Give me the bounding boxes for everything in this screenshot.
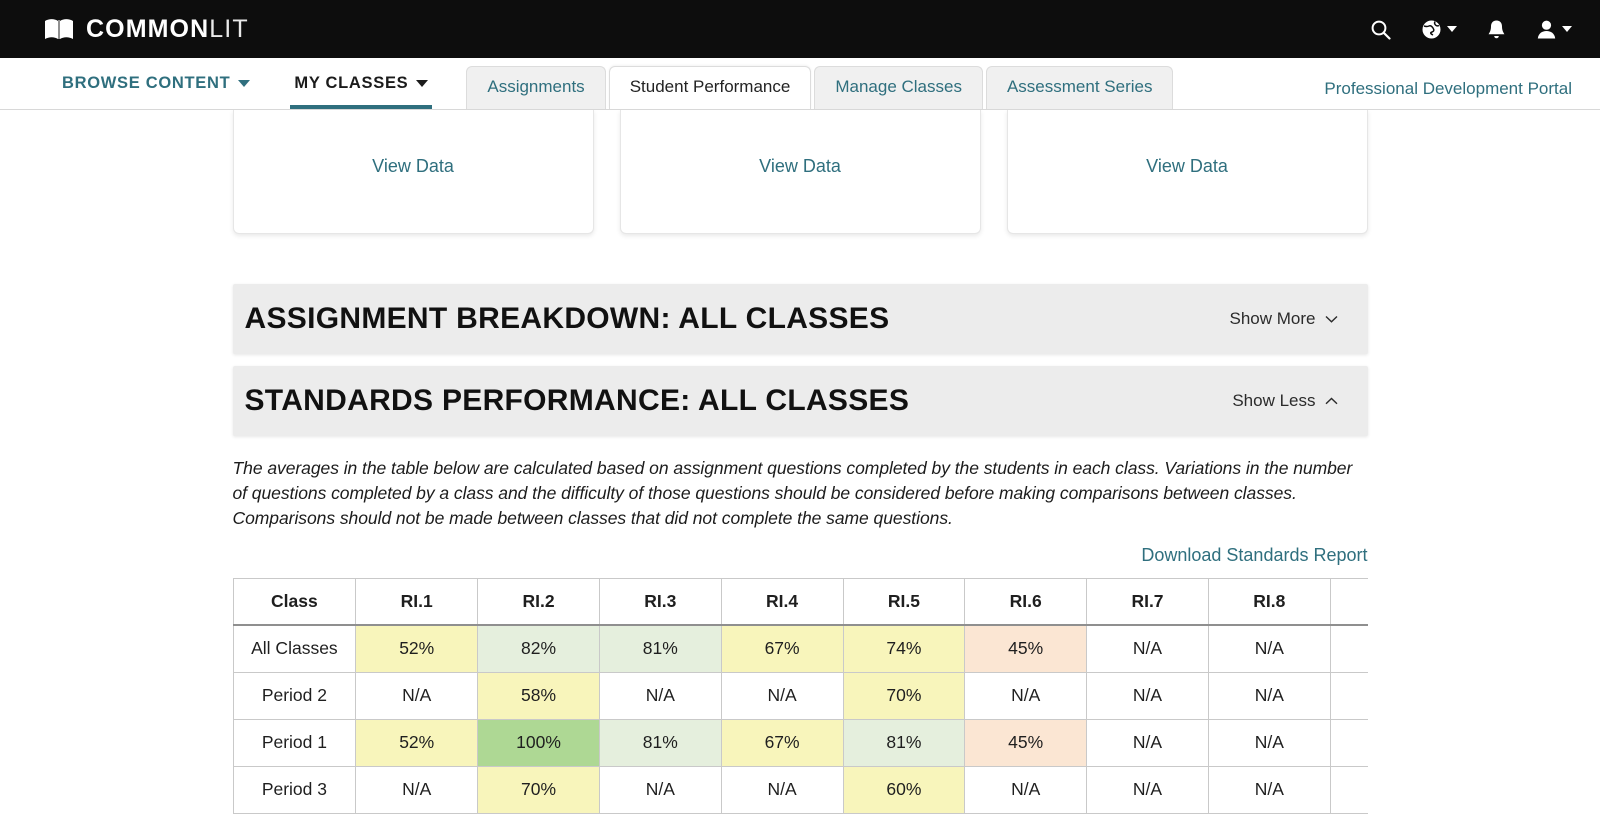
standards-performance-toggle-label: Show Less <box>1232 391 1315 411</box>
col-header-ri5: RI.5 <box>843 578 965 625</box>
chevron-down-icon <box>238 80 250 87</box>
col-header-ri9: RI.9 <box>1330 578 1367 625</box>
table-cell-score: N/A <box>356 766 478 813</box>
table-cell-score: N/A <box>1208 766 1330 813</box>
col-header-ri6: RI.6 <box>965 578 1087 625</box>
download-standards-report-link[interactable]: Download Standards Report <box>1141 545 1367 565</box>
table-cell-score: 67% <box>721 625 843 672</box>
assignment-breakdown-toggle[interactable]: Show More <box>1230 309 1338 329</box>
col-header-ri2: RI.2 <box>478 578 600 625</box>
table-cell-score: N <box>1330 625 1367 672</box>
summary-card[interactable]: View Data <box>1007 110 1368 234</box>
tab-student-performance[interactable]: Student Performance <box>609 66 812 109</box>
table-cell-score: 100% <box>478 719 600 766</box>
commonlit-logo[interactable]: COMMONLIT <box>44 15 249 44</box>
row-label-class: Period 3 <box>233 766 356 813</box>
chevron-down-icon <box>1447 26 1457 32</box>
table-cell-score: N/A <box>1087 766 1209 813</box>
col-header-ri4: RI.4 <box>721 578 843 625</box>
tab-manage-classes[interactable]: Manage Classes <box>814 66 983 109</box>
table-row: Period 152%100%81%67%81%45%N/AN/AN <box>233 719 1368 766</box>
table-row: Period 2N/A58%N/AN/A70%N/AN/AN/AN <box>233 672 1368 719</box>
view-data-link[interactable]: View Data <box>759 156 841 177</box>
brand-name: COMMONLIT <box>86 15 249 44</box>
open-book-icon <box>44 18 74 40</box>
brand-name-light: LIT <box>209 15 248 43</box>
assignment-breakdown-section-header[interactable]: ASSIGNMENT BREAKDOWN: ALL CLASSES Show M… <box>233 284 1368 354</box>
standards-performance-table: Class RI.1 RI.2 RI.3 RI.4 RI.5 RI.6 RI.7… <box>233 578 1368 814</box>
table-header-row: Class RI.1 RI.2 RI.3 RI.4 RI.5 RI.6 RI.7… <box>233 578 1368 625</box>
table-cell-score: 70% <box>843 672 965 719</box>
table-cell-score: 70% <box>478 766 600 813</box>
standards-performance-section-header[interactable]: STANDARDS PERFORMANCE: ALL CLASSES Show … <box>233 366 1368 436</box>
table-row: Period 3N/A70%N/AN/A60%N/AN/AN/AN <box>233 766 1368 813</box>
chevron-down-icon <box>416 80 428 87</box>
table-cell-score: 45% <box>965 625 1087 672</box>
standards-table-scroll-container[interactable]: Class RI.1 RI.2 RI.3 RI.4 RI.5 RI.6 RI.7… <box>233 578 1368 814</box>
table-cell-score: 81% <box>599 719 721 766</box>
table-cell-score: N/A <box>721 766 843 813</box>
tab-assignments[interactable]: Assignments <box>466 66 605 109</box>
professional-development-portal-link[interactable]: Professional Development Portal <box>1324 79 1572 99</box>
table-cell-score: N/A <box>721 672 843 719</box>
top-header-bar: COMMONLIT <box>0 0 1600 58</box>
brand-name-bold: COMMON <box>86 15 209 43</box>
table-cell-score: 74% <box>843 625 965 672</box>
nav-browse-content[interactable]: BROWSE CONTENT <box>40 58 272 109</box>
table-cell-score: N/A <box>599 766 721 813</box>
row-label-class: All Classes <box>233 625 356 672</box>
view-data-link[interactable]: View Data <box>372 156 454 177</box>
view-data-link[interactable]: View Data <box>1146 156 1228 177</box>
table-cell-score: 45% <box>965 719 1087 766</box>
col-header-ri7: RI.7 <box>1087 578 1209 625</box>
user-icon[interactable] <box>1536 19 1572 40</box>
nav-my-classes-label: MY CLASSES <box>294 74 408 93</box>
chevron-up-icon <box>1325 397 1338 405</box>
tab-assessment-series[interactable]: Assessment Series <box>986 66 1174 109</box>
summary-cards-row: View Data View Data View Data <box>233 110 1368 234</box>
table-cell-score: N/A <box>965 672 1087 719</box>
table-cell-score: N/A <box>1208 625 1330 672</box>
col-header-ri8: RI.8 <box>1208 578 1330 625</box>
nav-my-classes[interactable]: MY CLASSES <box>272 58 450 109</box>
table-row: All Classes52%82%81%67%74%45%N/AN/AN <box>233 625 1368 672</box>
assignment-breakdown-title: ASSIGNMENT BREAKDOWN: ALL CLASSES <box>245 302 890 336</box>
table-cell-score: N <box>1330 672 1367 719</box>
col-header-ri1: RI.1 <box>356 578 478 625</box>
table-body: All Classes52%82%81%67%74%45%N/AN/ANPeri… <box>233 625 1368 813</box>
summary-card[interactable]: View Data <box>233 110 594 234</box>
assignment-breakdown-toggle-label: Show More <box>1230 309 1316 329</box>
table-cell-score: 81% <box>599 625 721 672</box>
chevron-down-icon <box>1562 26 1572 32</box>
topbar-actions <box>1370 19 1572 40</box>
nav-browse-content-label: BROWSE CONTENT <box>62 74 230 93</box>
table-cell-score: 60% <box>843 766 965 813</box>
table-cell-score: 52% <box>356 719 478 766</box>
table-cell-score: N/A <box>1208 719 1330 766</box>
search-icon[interactable] <box>1370 19 1391 40</box>
table-cell-score: 67% <box>721 719 843 766</box>
globe-icon[interactable] <box>1421 19 1457 40</box>
table-cell-score: N/A <box>1208 672 1330 719</box>
col-header-class: Class <box>233 578 356 625</box>
page-content: View Data View Data View Data ASSIGNMENT… <box>0 110 1600 816</box>
table-cell-score: 82% <box>478 625 600 672</box>
standards-performance-title: STANDARDS PERFORMANCE: ALL CLASSES <box>245 384 910 418</box>
table-cell-score: N/A <box>1087 719 1209 766</box>
row-label-class: Period 1 <box>233 719 356 766</box>
summary-card[interactable]: View Data <box>620 110 981 234</box>
table-cell-score: N/A <box>965 766 1087 813</box>
standards-performance-toggle[interactable]: Show Less <box>1232 391 1337 411</box>
table-cell-score: N/A <box>356 672 478 719</box>
bell-icon[interactable] <box>1487 19 1506 40</box>
col-header-ri3: RI.3 <box>599 578 721 625</box>
main-nav-links: BROWSE CONTENT MY CLASSES <box>40 58 450 109</box>
table-cell-score: 52% <box>356 625 478 672</box>
chevron-down-icon <box>1325 315 1338 323</box>
table-cell-score: 58% <box>478 672 600 719</box>
secondary-nav-bar: BROWSE CONTENT MY CLASSES Assignments St… <box>0 58 1600 110</box>
table-cell-score: N/A <box>599 672 721 719</box>
download-link-row: Download Standards Report <box>233 545 1368 566</box>
table-cell-score: 81% <box>843 719 965 766</box>
section-tabs: Assignments Student Performance Manage C… <box>466 66 1173 109</box>
table-head: Class RI.1 RI.2 RI.3 RI.4 RI.5 RI.6 RI.7… <box>233 578 1368 625</box>
row-label-class: Period 2 <box>233 672 356 719</box>
table-cell-score: N <box>1330 719 1367 766</box>
table-cell-score: N/A <box>1087 625 1209 672</box>
content-wrapper: View Data View Data View Data ASSIGNMENT… <box>233 110 1368 814</box>
table-cell-score: N <box>1330 766 1367 813</box>
standards-description-text: The averages in the table below are calc… <box>233 456 1368 531</box>
table-cell-score: N/A <box>1087 672 1209 719</box>
